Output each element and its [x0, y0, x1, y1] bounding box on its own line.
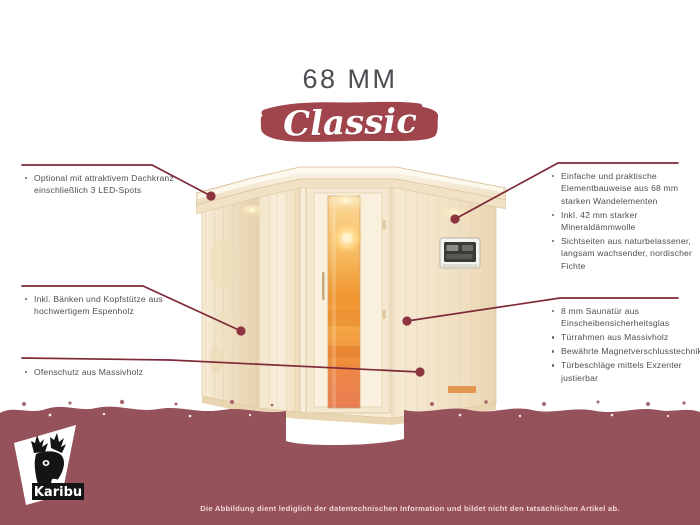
brand-wordmark: Karibu	[34, 485, 82, 500]
callout-left-benches: Inkl. Bänken und Kopfstütze aus hochwert…	[24, 293, 174, 319]
page-title-size: 68 MM	[0, 64, 700, 95]
callout-left-roof-crown: Optional mit attraktivem Dachkranz einsc…	[24, 172, 174, 198]
callout-bullet: Türbeschläge mittels Exzenter justierbar	[551, 359, 700, 384]
callout-right-sauna-door: 8 mm Saunatür aus Einscheibensicherheits…	[551, 305, 700, 385]
callout-bullet: 8 mm Saunatür aus Einscheibensicherheits…	[551, 305, 700, 330]
product-name-banner: Classic	[259, 100, 441, 146]
callout-bullet: Türrahmen aus Massivholz	[551, 331, 700, 343]
callout-bullet: Inkl. 42 mm starker Mineraldämmwolle	[551, 209, 700, 234]
callout-bullet: Bewährte Magnetverschlusstechnik	[551, 345, 700, 357]
callout-bullet: Ofenschutz aus Massivholz	[24, 366, 174, 378]
brand-logo: Karibu	[10, 421, 122, 513]
sauna-control-panel-graphic	[440, 238, 480, 268]
disclaimer-text: Die Abbildung dient lediglich der datent…	[0, 504, 700, 513]
callout-bullet: Inkl. Bänken und Kopfstütze aus hochwert…	[24, 293, 174, 318]
product-name-text: Classic	[258, 98, 441, 148]
callout-bullet: Sichtseiten aus naturbelassener, langsam…	[551, 235, 700, 272]
callout-bullet: Optional mit attraktivem Dachkranz einsc…	[24, 172, 174, 197]
product-info-sheet: 68 MM Classic	[0, 0, 700, 525]
callout-left-stove-guard: Ofenschutz aus Massivholz	[24, 366, 174, 380]
callout-right-element-construction: Einfache und praktische Elementbauweise …	[551, 170, 700, 274]
callout-bullet: Einfache und praktische Elementbauweise …	[551, 170, 700, 207]
